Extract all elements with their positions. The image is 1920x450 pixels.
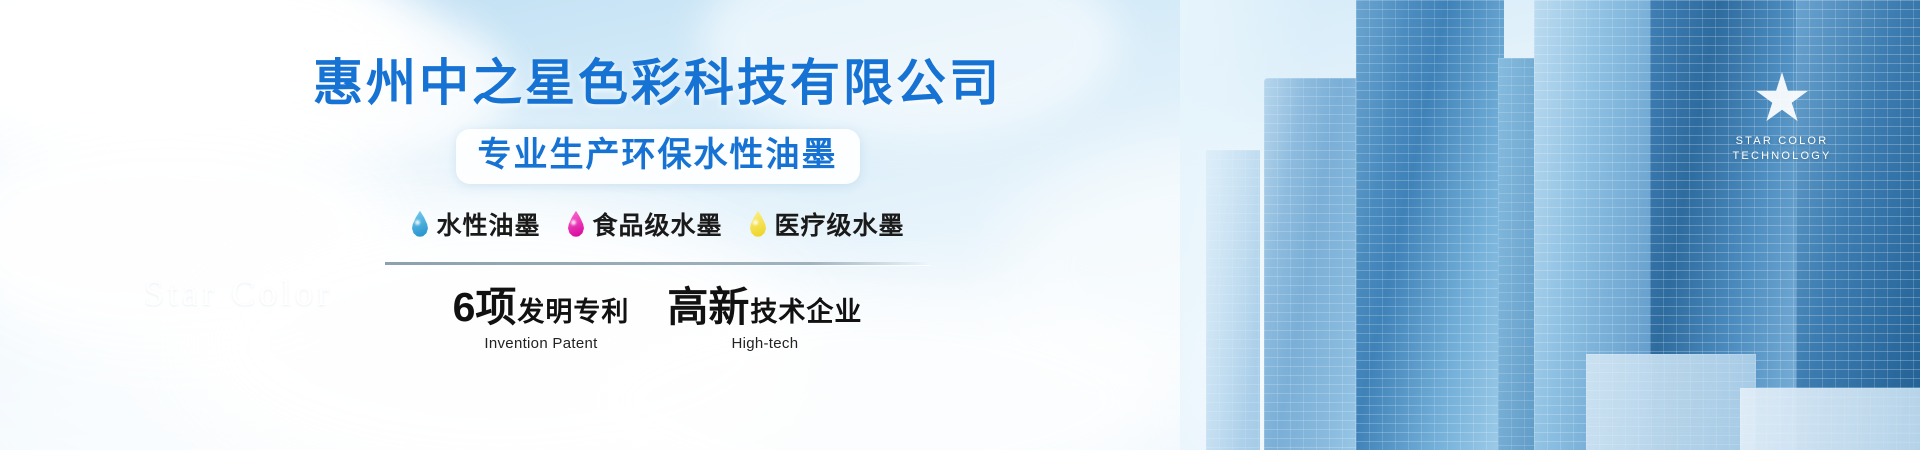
corner-logo: STAR COLOR TECHNOLOGY [1712, 72, 1852, 164]
credential-headline: 高新 [667, 287, 749, 328]
water-drop-icon [410, 211, 429, 237]
credentials-list: 6项 发明专利 Invention Patent 高新 技术企业 High-te… [453, 287, 863, 352]
credential-subhead: 技术企业 [750, 299, 862, 326]
credential-item: 6项 发明专利 Invention Patent [453, 287, 630, 352]
product-label: 食品级水墨 [592, 206, 722, 242]
hero-banner: Star Color [0, 0, 1920, 450]
corner-logo-line2: TECHNOLOGY [1712, 149, 1852, 164]
corner-logo-line1: STAR COLOR [1712, 134, 1852, 149]
water-drop-icon [749, 211, 768, 237]
credential-subhead: 发明专利 [517, 299, 629, 326]
product-label: 水性油墨 [436, 206, 540, 242]
banner-content: 惠州中之星色彩科技有限公司 专业生产环保水性油墨 水性油墨 食品级水墨 医疗级水… [0, 0, 1315, 450]
water-drop-icon [566, 211, 585, 237]
product-label: 医疗级水墨 [775, 206, 905, 242]
divider [385, 262, 930, 265]
tagline-pill: 专业生产环保水性油墨 [456, 129, 860, 184]
list-item: 食品级水墨 [566, 206, 722, 242]
company-title: 惠州中之星色彩科技有限公司 [313, 58, 1002, 108]
star-icon [1755, 72, 1809, 126]
credential-english: High-tech [667, 335, 862, 352]
list-item: 医疗级水墨 [749, 206, 905, 242]
list-item: 水性油墨 [410, 206, 540, 242]
credential-item: 高新 技术企业 High-tech [667, 287, 862, 352]
credential-english: Invention Patent [453, 335, 630, 352]
tagline-text: 专业生产环保水性油墨 [478, 137, 838, 174]
credential-headline: 6项 [453, 287, 517, 328]
product-list: 水性油墨 食品级水墨 医疗级水墨 [410, 206, 904, 242]
